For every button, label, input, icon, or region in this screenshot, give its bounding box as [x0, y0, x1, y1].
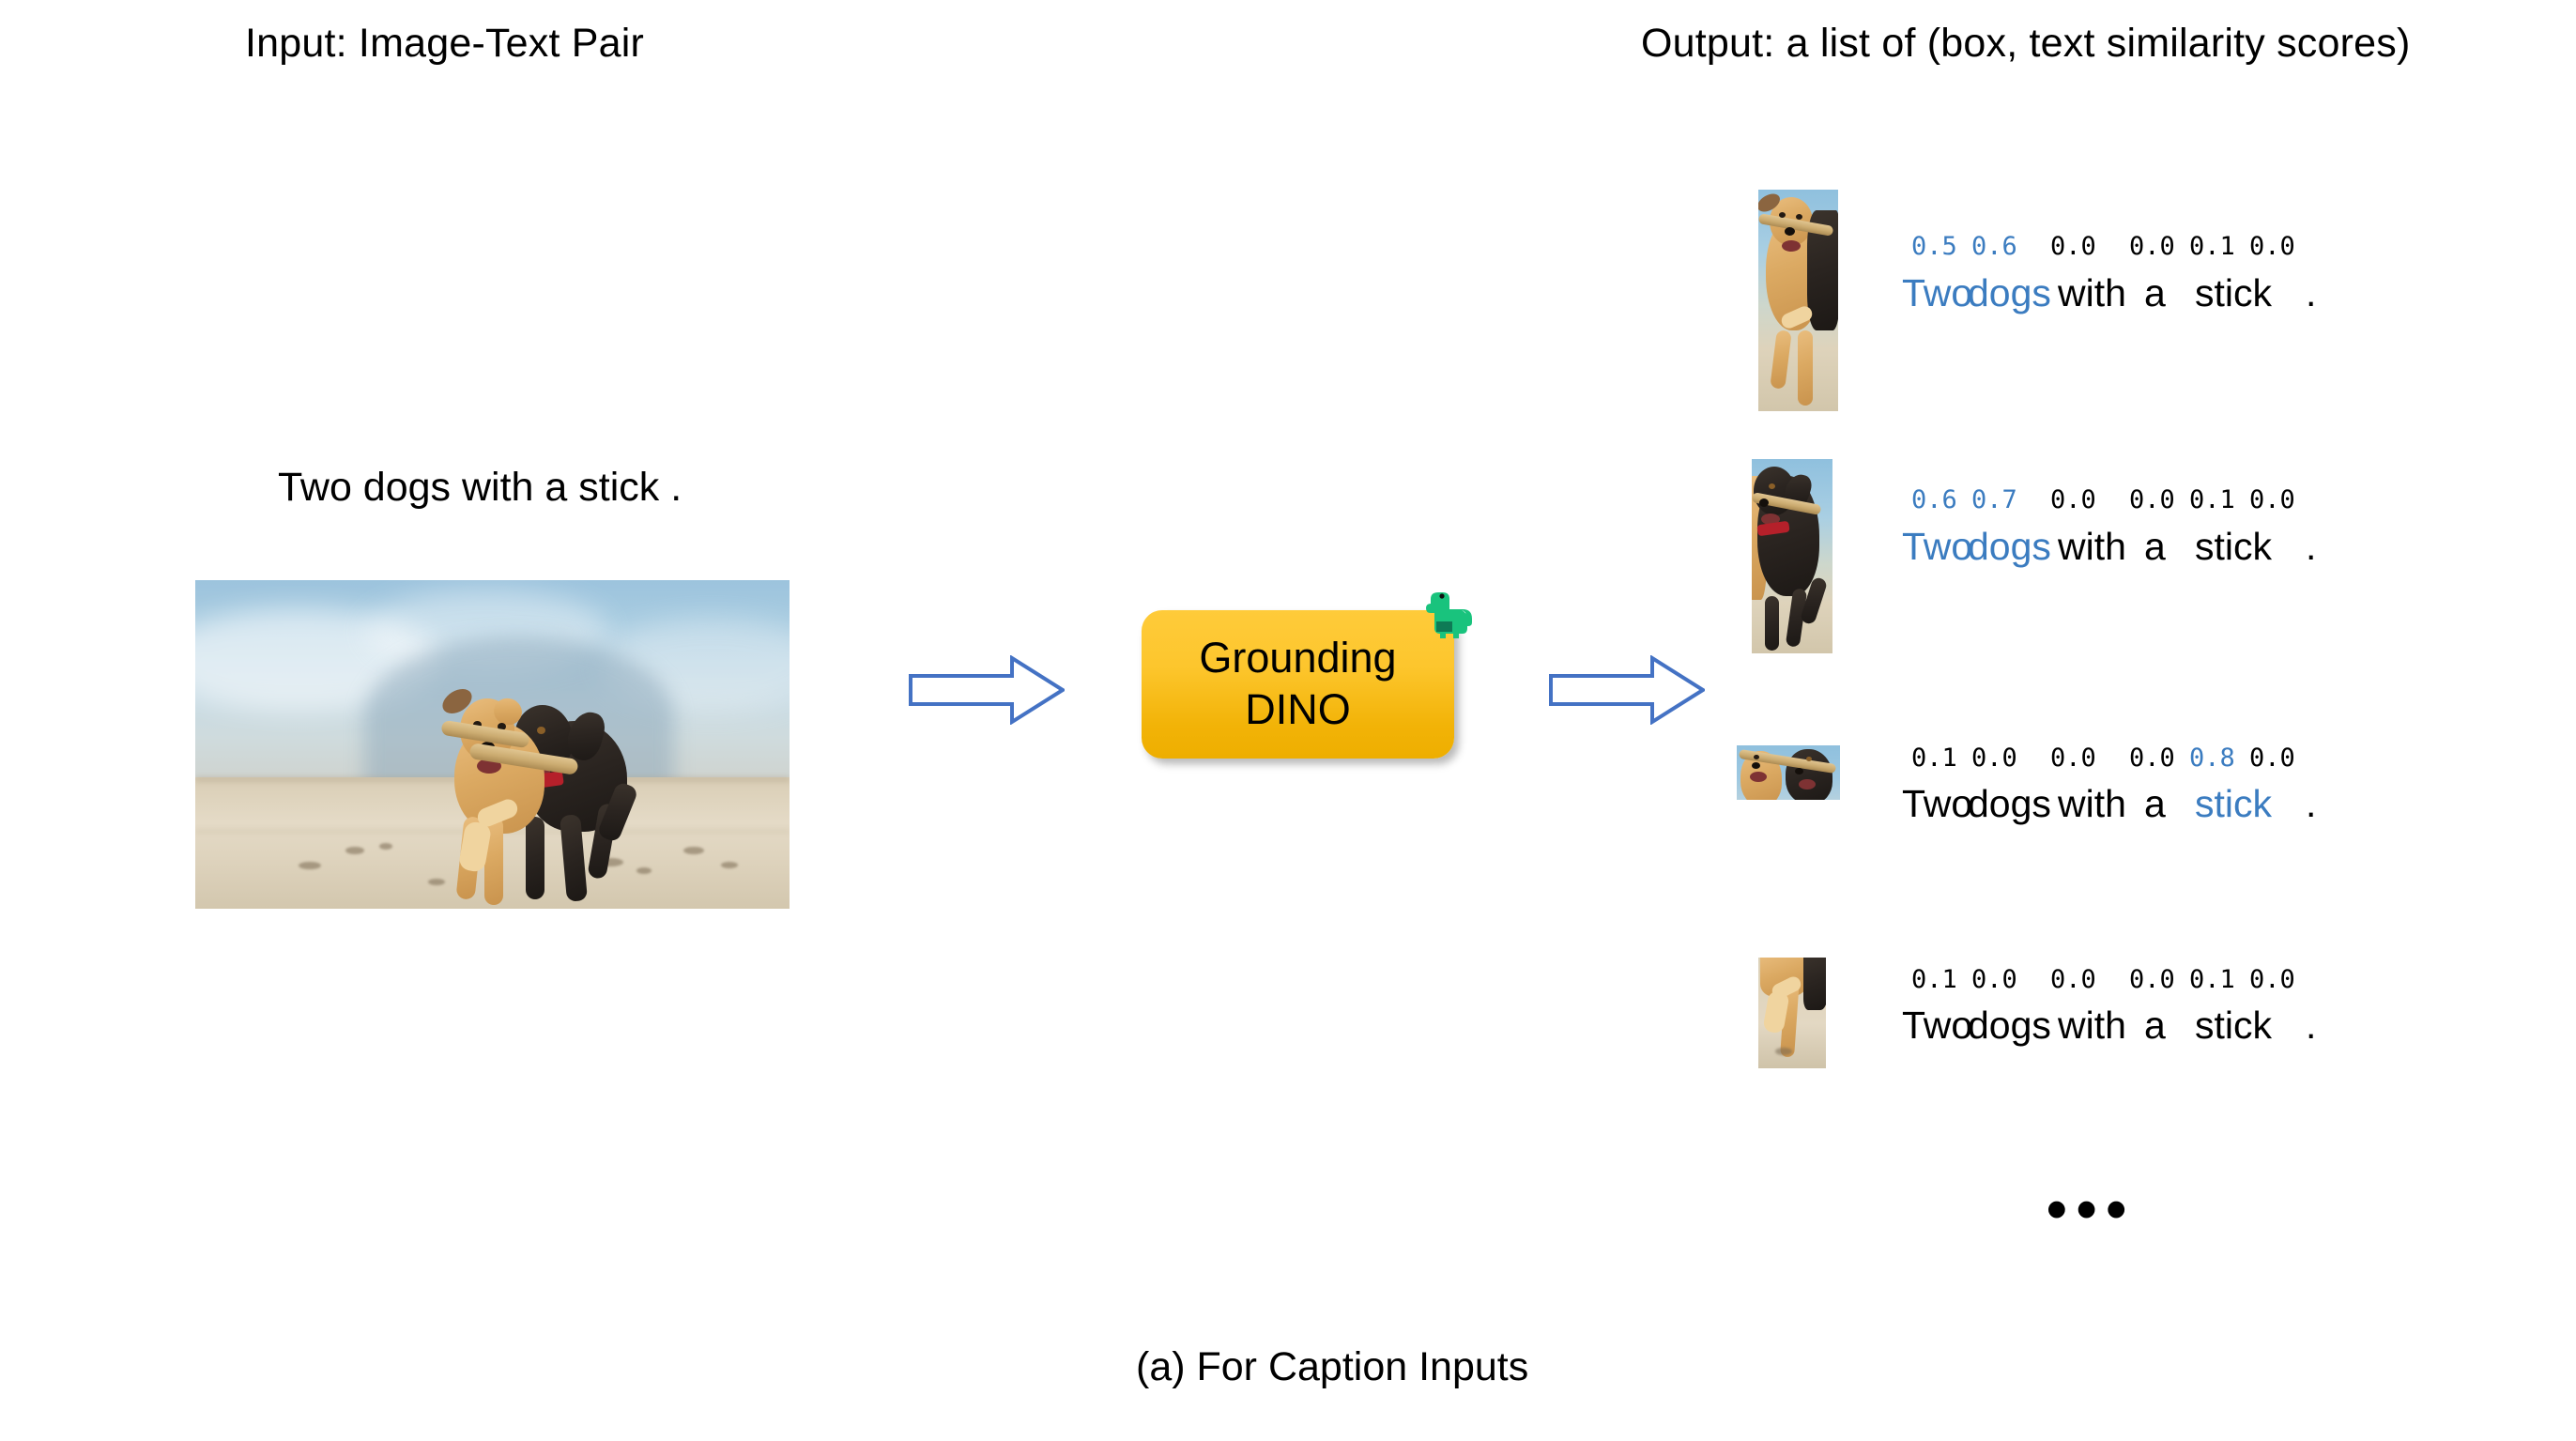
score-cell: 0.8	[2189, 743, 2235, 773]
token-period: .	[2306, 1004, 2316, 1048]
score-cell: 0.0	[2129, 743, 2175, 773]
score-cell: 0.6	[1911, 485, 1957, 514]
score-cell: 0.1	[2189, 485, 2235, 514]
token-Two: Two	[1902, 271, 1972, 315]
score-cell: 0.0	[2249, 232, 2295, 261]
grounding-dino-model-box[interactable]: Grounding DINO	[1142, 610, 1454, 759]
token-Two: Two	[1902, 525, 1972, 569]
score-cell: 0.0	[2129, 232, 2175, 261]
token-a: a	[2144, 525, 2166, 569]
token-dogs: dogs	[1968, 271, 2051, 315]
output-section-title: Output: a list of (box, text similarity …	[1641, 21, 2410, 67]
token-stick: stick	[2195, 1004, 2272, 1048]
token-period: .	[2306, 525, 2316, 569]
score-cell: 0.0	[2129, 485, 2175, 514]
score-cell: 0.0	[2050, 743, 2096, 773]
model-name-line2: DINO	[1245, 684, 1351, 736]
token-a: a	[2144, 782, 2166, 826]
score-cell: 0.5	[1911, 232, 1957, 261]
token-stick: stick	[2195, 271, 2272, 315]
input-caption-text: Two dogs with a stick .	[278, 465, 682, 511]
score-cell: 0.0	[2249, 965, 2295, 994]
list-item-crop-0	[1758, 190, 1838, 411]
token-dogs: dogs	[1968, 1004, 2051, 1048]
token-dogs: dogs	[1968, 782, 2051, 826]
dinosaur-icon	[1419, 582, 1478, 638]
token-stick: stick	[2195, 782, 2272, 826]
score-cell: 0.1	[1911, 743, 1957, 773]
token-Two: Two	[1902, 1004, 1972, 1048]
score-cell: 0.0	[2129, 965, 2175, 994]
arrow-input-to-model	[909, 655, 1065, 725]
more-results-ellipsis: •••	[2047, 1181, 2136, 1239]
token-with: with	[2058, 782, 2126, 826]
score-cell: 0.0	[2050, 485, 2096, 514]
score-cell: 0.0	[2050, 232, 2096, 261]
score-cell: 0.0	[1971, 743, 2017, 773]
token-with: with	[2058, 525, 2126, 569]
score-cell: 0.0	[2249, 743, 2295, 773]
score-cell: 0.1	[1911, 965, 1957, 994]
score-cell: 0.0	[2249, 485, 2295, 514]
score-cell: 0.7	[1971, 485, 2017, 514]
token-a: a	[2144, 1004, 2166, 1048]
token-dogs: dogs	[1968, 525, 2051, 569]
score-cell: 0.0	[2050, 965, 2096, 994]
list-item-crop-2	[1737, 745, 1840, 800]
score-cell: 0.1	[2189, 965, 2235, 994]
token-period: .	[2306, 782, 2316, 826]
token-with: with	[2058, 271, 2126, 315]
token-a: a	[2144, 271, 2166, 315]
list-item-crop-3	[1758, 958, 1826, 1068]
score-cell: 0.1	[2189, 232, 2235, 261]
score-cell: 0.6	[1971, 232, 2017, 261]
arrow-model-to-output	[1549, 655, 1705, 725]
token-with: with	[2058, 1004, 2126, 1048]
token-stick: stick	[2195, 525, 2272, 569]
score-cell: 0.0	[1971, 965, 2017, 994]
list-item-crop-1	[1752, 459, 1832, 653]
input-section-title: Input: Image-Text Pair	[245, 21, 644, 67]
input-image	[195, 580, 790, 909]
model-name-line1: Grounding	[1199, 633, 1396, 684]
token-Two: Two	[1902, 782, 1972, 826]
token-period: .	[2306, 271, 2316, 315]
figure-caption: (a) For Caption Inputs	[1136, 1344, 1528, 1390]
